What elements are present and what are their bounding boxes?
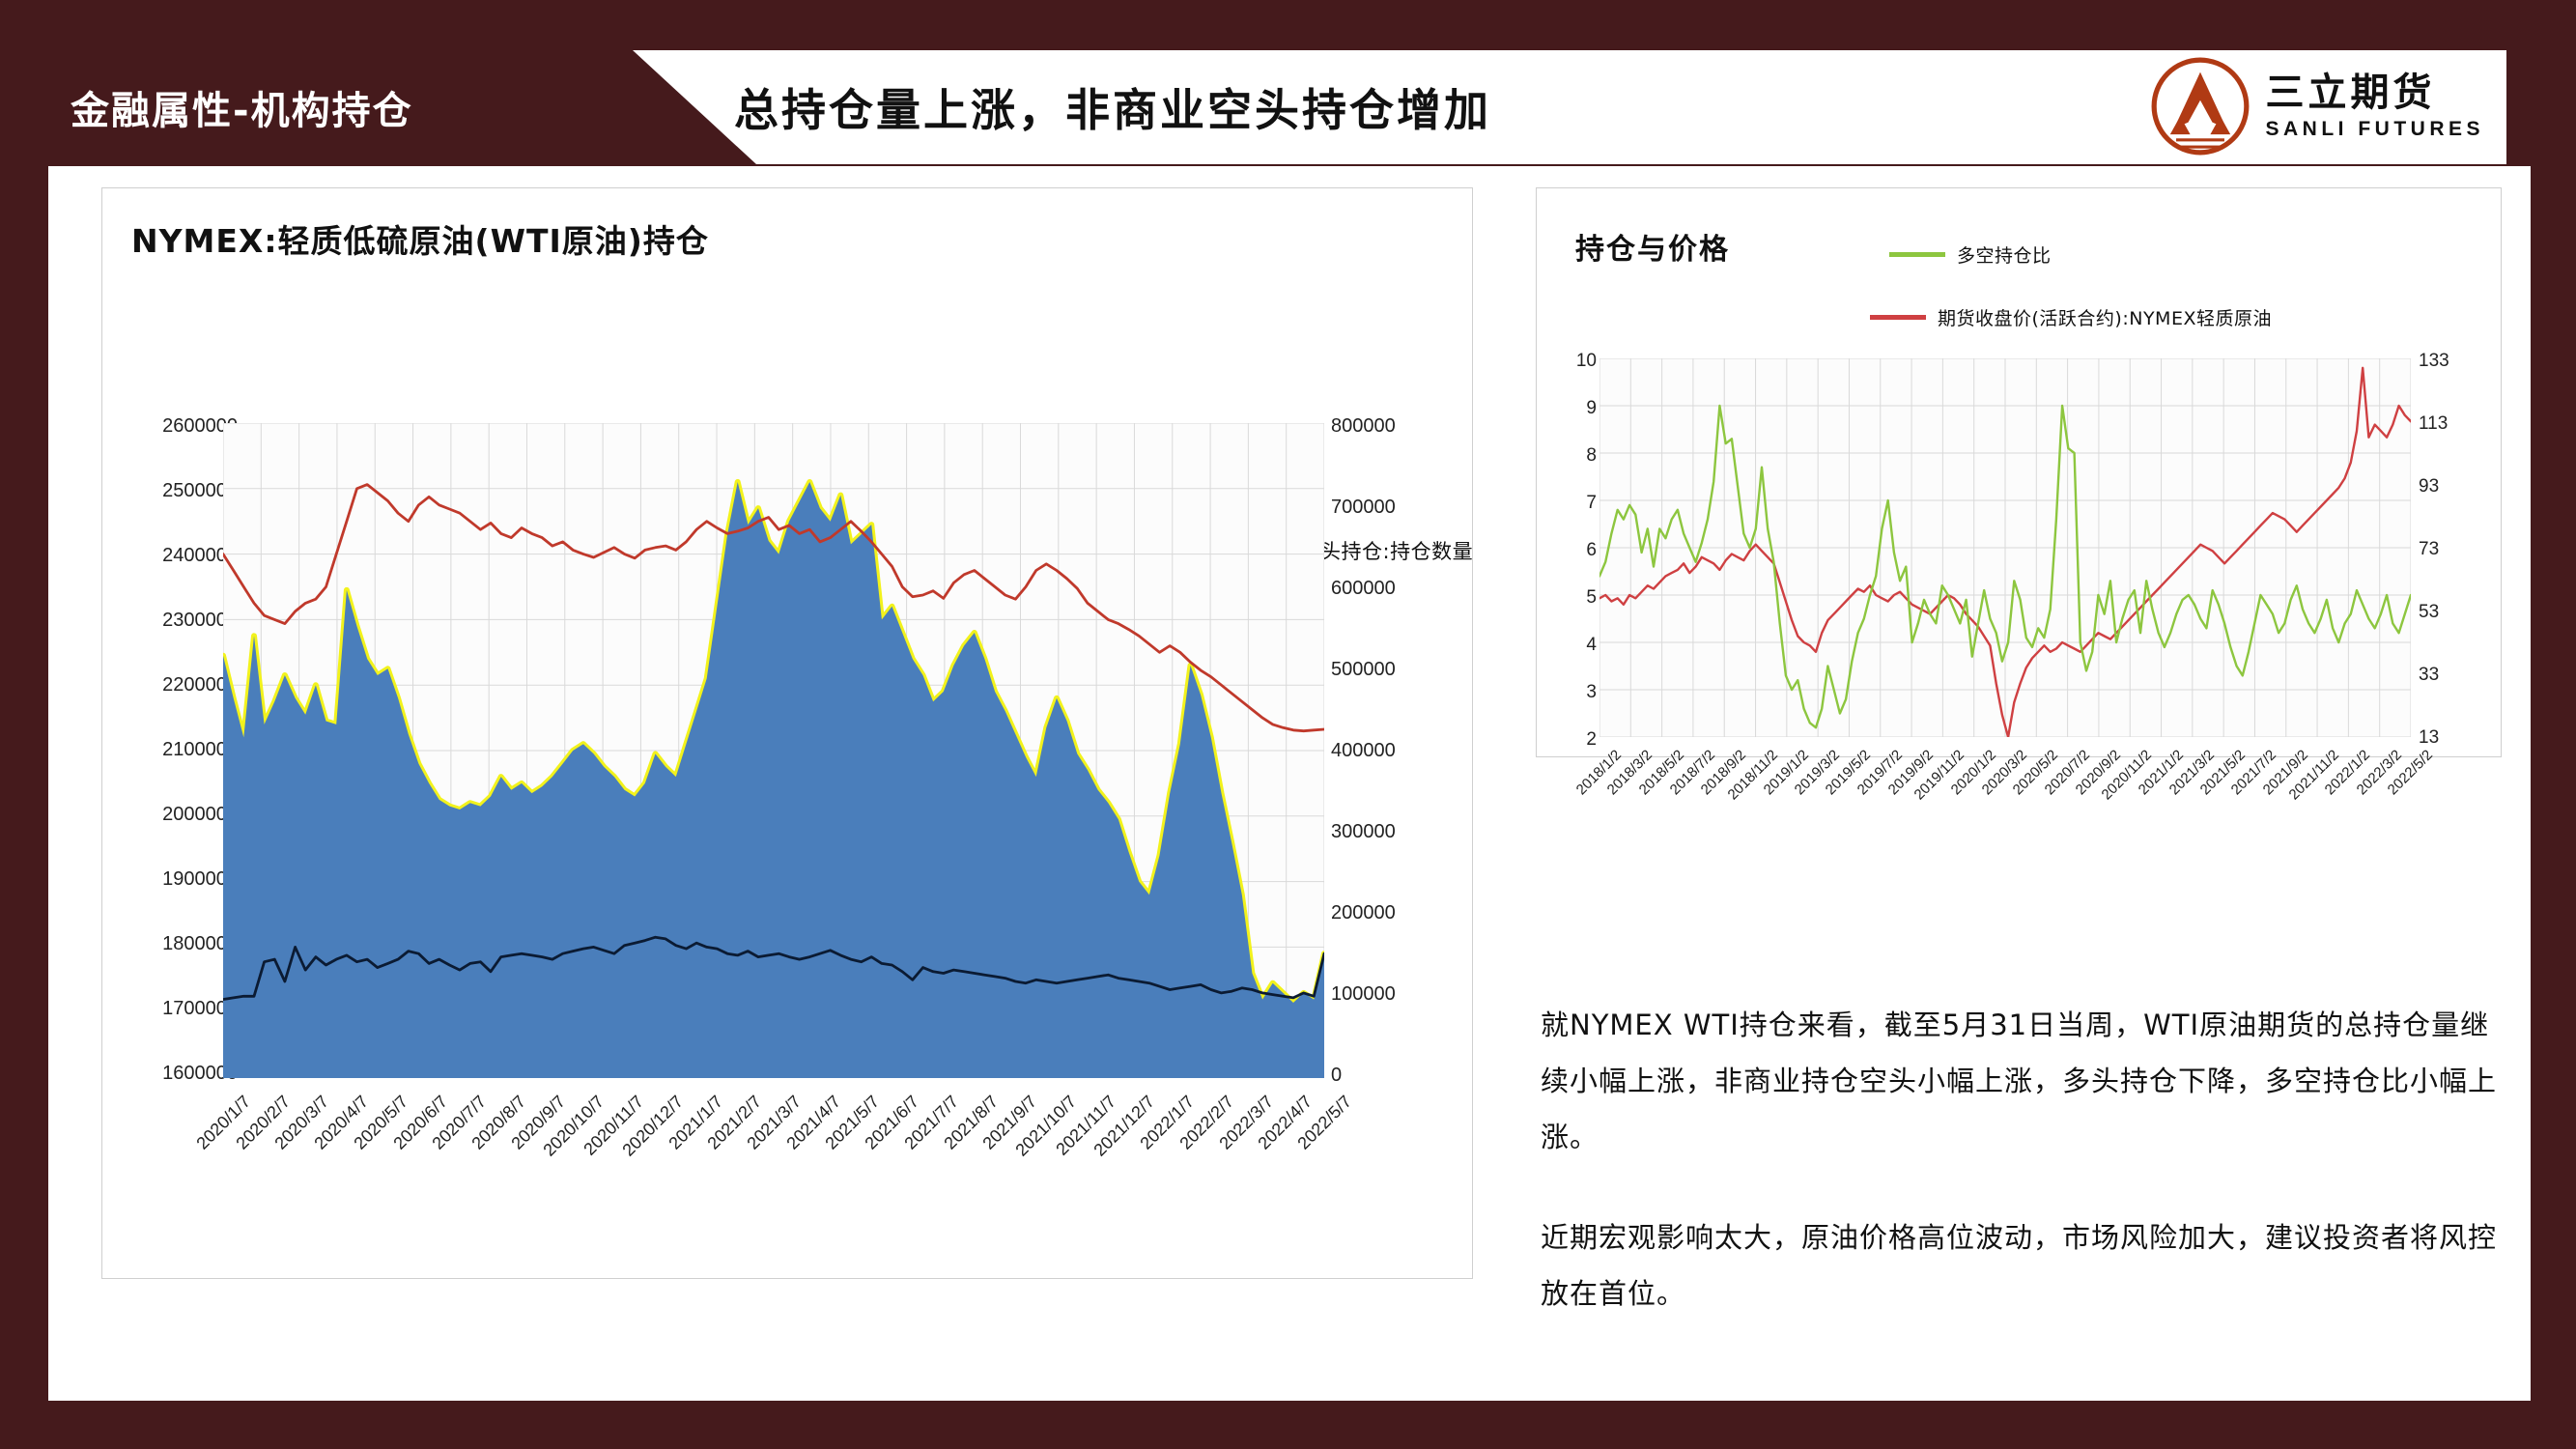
legend-label-ratio: 多空持仓比 <box>1957 241 2052 268</box>
header-section-tab: 金融属性-机构持仓 <box>53 50 720 164</box>
left-axis-tick: 1800000 <box>102 933 238 955</box>
right-panel-left-axis-tick: 5 <box>1537 587 1597 609</box>
logo-wordmark: 三立期货 SANLI FUTURES <box>2266 72 2485 141</box>
header-section-label: 金融属性-机构持仓 <box>53 79 413 135</box>
left-chart-plot-area <box>223 423 1324 1078</box>
logo-name-en: SANLI FUTURES <box>2266 118 2485 141</box>
right-axis-tick: 200000 <box>1331 902 1396 924</box>
right-panel-left-axis-tick: 8 <box>1537 445 1597 467</box>
left-chart-title: NYMEX:轻质低硫原油(WTI原油)持仓 <box>131 215 709 262</box>
right-panel-left-axis-tick: 10 <box>1537 351 1597 372</box>
right-panel-left-axis-tick: 6 <box>1537 540 1597 561</box>
right-panel-left-axis-tick: 9 <box>1537 398 1597 419</box>
legend-swatch-line-icon <box>1889 252 1945 257</box>
left-axis-tick: 2300000 <box>102 610 238 632</box>
right-panel-left-axis-tick: 2 <box>1537 729 1597 751</box>
left-axis-tick: 2100000 <box>102 739 238 761</box>
oi-and-price-chart-panel: 持仓与价格 多空持仓比 期货收盘价(活跃合约):NYMEX轻质原油 10 9 8… <box>1536 187 2502 757</box>
right-chart-title: 持仓与价格 <box>1575 225 1730 268</box>
right-panel-left-axis-tick: 3 <box>1537 682 1597 703</box>
right-axis-tick: 0 <box>1331 1065 1342 1087</box>
left-axis-tick: 2000000 <box>102 804 238 826</box>
right-axis-tick: 500000 <box>1331 659 1396 681</box>
wti-open-interest-chart-panel: NYMEX:轻质低硫原油(WTI原油)持仓 总持仓 非商业多头持仓:持仓数量 非… <box>101 187 1473 1279</box>
mountain-logo-icon <box>2150 56 2250 156</box>
right-panel-left-axis-tick: 7 <box>1537 493 1597 514</box>
page-title: 总持仓量上涨，非商业空头持仓增加 <box>734 50 1491 164</box>
legend-swatch-line-icon <box>1870 315 1926 320</box>
right-panel-right-axis-tick: 53 <box>2419 602 2439 623</box>
commentary-paragraph-1: 就NYMEX WTI持仓来看，截至5月31日当周，WTI原油期货的总持仓量继续小… <box>1541 997 2516 1165</box>
left-axis-tick: 2500000 <box>102 480 238 502</box>
page-header: 金融属性-机构持仓 总持仓量上涨，非商业空头持仓增加 三立期货 SANLI FU… <box>0 0 2576 164</box>
company-logo: 三立期货 SANLI FUTURES <box>2150 56 2485 156</box>
right-axis-tick: 100000 <box>1331 983 1396 1006</box>
legend-futures-close-price: 期货收盘价(活跃合约):NYMEX轻质原油 <box>1870 304 2272 330</box>
right-axis-tick: 700000 <box>1331 497 1396 519</box>
right-chart-plot-area <box>1599 358 2411 737</box>
right-axis-tick: 300000 <box>1331 821 1396 843</box>
right-panel-right-axis-tick: 133 <box>2419 351 2449 372</box>
legend-long-short-ratio: 多空持仓比 <box>1889 241 2052 268</box>
commentary-paragraph-2: 近期宏观影响太大，原油价格高位波动，市场风险加大，建议投资者将风控放在首位。 <box>1541 1209 2516 1321</box>
left-axis-tick: 1600000 <box>102 1063 238 1085</box>
left-axis-tick: 2600000 <box>102 415 238 438</box>
right-axis-tick: 600000 <box>1331 578 1396 600</box>
right-axis-tick: 400000 <box>1331 740 1396 762</box>
right-panel-right-axis-tick: 13 <box>2419 727 2439 749</box>
left-axis-tick: 1700000 <box>102 998 238 1020</box>
left-axis-tick: 1900000 <box>102 868 238 891</box>
commentary-block: 就NYMEX WTI持仓来看，截至5月31日当周，WTI原油期货的总持仓量继续小… <box>1541 997 2516 1366</box>
left-axis-tick: 2200000 <box>102 674 238 696</box>
right-panel-right-axis-tick: 93 <box>2419 476 2439 497</box>
right-axis-tick: 800000 <box>1331 415 1396 438</box>
slide-body: NYMEX:轻质低硫原油(WTI原油)持仓 总持仓 非商业多头持仓:持仓数量 非… <box>48 166 2531 1401</box>
right-panel-left-axis-tick: 4 <box>1537 635 1597 656</box>
logo-name-cn: 三立期货 <box>2266 72 2485 113</box>
right-panel-right-axis-tick: 33 <box>2419 665 2439 686</box>
left-axis-tick: 2400000 <box>102 545 238 567</box>
right-panel-right-axis-tick: 73 <box>2419 539 2439 560</box>
legend-label-price: 期货收盘价(活跃合约):NYMEX轻质原油 <box>1938 304 2272 330</box>
right-panel-right-axis-tick: 113 <box>2419 413 2448 435</box>
